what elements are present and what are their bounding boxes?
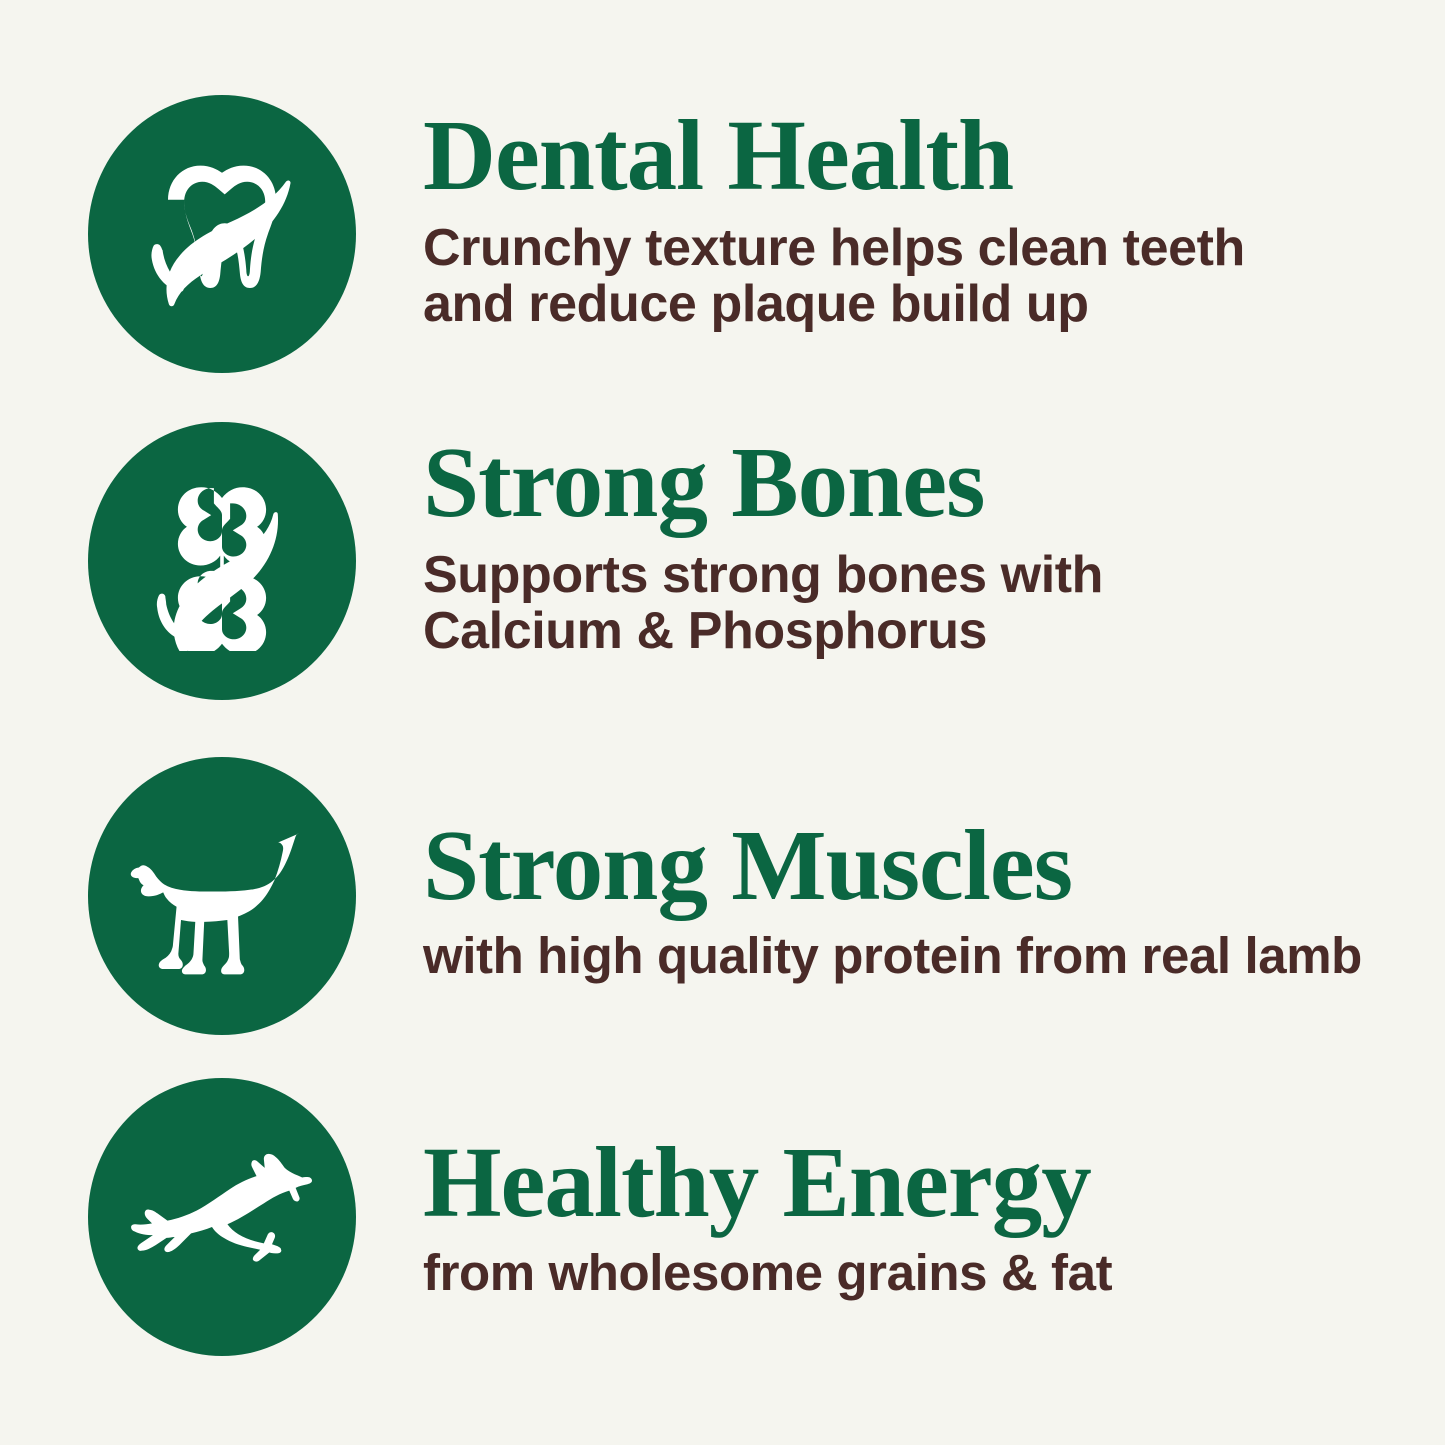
benefit-description: with high quality protein from real lamb [423, 928, 1408, 984]
benefit-description: from wholesome grains & fat [423, 1245, 1408, 1301]
tooth-leaf-icon-badge [88, 95, 356, 373]
standing-dog-icon [124, 798, 320, 994]
benefit-item-strong-muscles: Strong Muscles with high quality protein… [88, 757, 1408, 1035]
tooth-leaf-icon [132, 144, 312, 324]
benefit-item-strong-bones: Strong Bones Supports strong bones with … [88, 422, 1408, 700]
benefits-list: Dental Health Crunchy texture helps clea… [0, 0, 1445, 1445]
benefit-item-dental-health: Dental Health Crunchy texture helps clea… [88, 95, 1408, 373]
benefit-text-block: Strong Muscles with high quality protein… [356, 757, 1408, 984]
benefit-description: Crunchy texture helps clean teeth and re… [423, 220, 1408, 332]
benefit-title: Strong Bones [423, 432, 1408, 533]
benefit-text-block: Strong Bones Supports strong bones with … [356, 422, 1408, 659]
benefit-item-healthy-energy: Healthy Energy from wholesome grains & f… [88, 1078, 1408, 1356]
benefit-text-block: Dental Health Crunchy texture helps clea… [356, 95, 1408, 332]
running-dog-icon [122, 1117, 322, 1317]
running-dog-icon-badge [88, 1078, 356, 1356]
benefit-title: Healthy Energy [423, 1132, 1408, 1233]
benefit-text-block: Healthy Energy from wholesome grains & f… [356, 1078, 1408, 1301]
benefit-description: Supports strong bones with Calcium & Pho… [423, 547, 1408, 659]
standing-dog-icon-badge [88, 757, 356, 1035]
bone-leaf-icon-badge [88, 422, 356, 700]
benefit-title: Dental Health [423, 105, 1408, 206]
bone-leaf-icon [132, 471, 312, 651]
benefit-title: Strong Muscles [423, 815, 1408, 916]
